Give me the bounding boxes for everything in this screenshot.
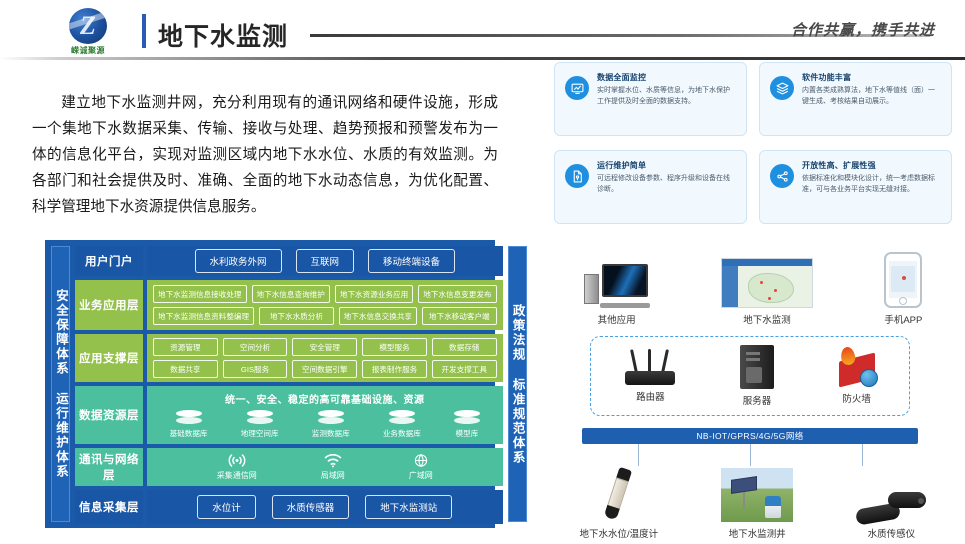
business-item[interactable]: 地下水信息查询维护 — [252, 285, 330, 303]
row-body: 水利政务外网 互联网 移动终端设备 — [147, 246, 503, 276]
database-item[interactable]: 地理空间库 — [241, 410, 279, 439]
device-label: 地下水监测井 — [729, 526, 786, 540]
network-item[interactable]: 局域网 — [321, 453, 345, 481]
feature-card-desc: 可远程修改设备参数、程序升级和设备在线诊断。 — [597, 174, 736, 195]
system-topology: 其他应用 地下水监测 手机APP 路由器 — [548, 240, 958, 540]
support-item[interactable]: 数据存储 — [432, 338, 497, 356]
architecture-row-support: 应用支撑层 资源管理 空间分析 安全管理 模型服务 数据存储 数据共享 GIS服… — [75, 334, 503, 382]
feature-card-title: 运行维护简单 — [597, 160, 736, 171]
business-item[interactable]: 地下水监测信息资料整编理 — [153, 307, 254, 325]
application-device[interactable]: 地下水监测 — [721, 258, 813, 326]
share-nodes-icon — [770, 164, 794, 188]
router-icon — [621, 349, 679, 385]
business-item[interactable]: 地下水信息变更发布 — [418, 285, 496, 303]
row-body: 统一、安全、稳定的高可靠基础设施、资源 基础数据库 地理空间库 监测数据库 — [147, 386, 503, 444]
logo-mark-icon — [69, 8, 107, 44]
map-screen-icon — [721, 258, 813, 308]
support-item[interactable]: 安全管理 — [292, 338, 357, 356]
desktop-computer-icon — [584, 264, 650, 308]
network-bar: NB-IOT/GPRS/4G/5G网络 — [582, 428, 918, 444]
row-body: 地下水监测信息接收处理 地下水信息查询维护 地下水资源业务应用 地下水信息变更发… — [147, 280, 503, 330]
feature-card[interactable]: 数据全面监控 实时掌握水位、水质等信息，为地下水保护工作提供及时全面的数据支持。 — [554, 62, 747, 136]
device-label: 手机APP — [884, 312, 922, 326]
feature-card-title: 软件功能丰富 — [802, 72, 941, 83]
support-item[interactable]: 资源管理 — [153, 338, 218, 356]
feature-card-grid: 数据全面监控 实时掌握水位、水质等信息，为地下水保护工作提供及时全面的数据支持。… — [554, 62, 952, 224]
database-cylinder-icon — [318, 410, 344, 426]
server-icon — [740, 345, 774, 389]
row-label: 数据资源层 — [75, 386, 143, 444]
application-device[interactable]: 其他应用 — [584, 264, 650, 326]
network-equipment-group: 路由器 服务器 防火墙 — [590, 336, 910, 416]
application-device-row: 其他应用 地下水监测 手机APP — [548, 240, 958, 326]
header-bottom-divider — [0, 57, 965, 60]
collection-item[interactable]: 水位计 — [197, 495, 256, 519]
database-label: 监测数据库 — [312, 428, 350, 439]
architecture-right-bar: 政策法规 标准规范体系 — [508, 246, 527, 522]
network-list: 采集通信网 局域网 — [153, 453, 497, 481]
sensor-device-row: 地下水水位/温度计 地下水监测井 水质传感仪 — [548, 462, 958, 540]
support-item[interactable]: GIS服务 — [223, 360, 288, 378]
row-body: 采集通信网 局域网 — [147, 448, 503, 486]
network-label: 广域网 — [409, 470, 433, 481]
feature-card-title: 数据全面监控 — [597, 72, 736, 83]
feature-card-desc: 实时掌握水位、水质等信息，为地下水保护工作提供及时全面的数据支持。 — [597, 86, 736, 107]
database-label: 基础数据库 — [170, 428, 208, 439]
support-item[interactable]: 数据共享 — [153, 360, 218, 378]
portal-item[interactable]: 移动终端设备 — [368, 249, 455, 273]
database-item[interactable]: 模型库 — [454, 410, 480, 439]
database-cylinder-icon — [389, 410, 415, 426]
architecture-left-bar: 安全保障体系 运行维护体系 — [51, 246, 70, 522]
firewall-icon — [835, 347, 879, 387]
page-title: 地下水监测 — [158, 17, 288, 53]
business-item[interactable]: 地下水水质分析 — [259, 307, 334, 325]
device-label: 路由器 — [636, 389, 665, 403]
row-label: 通讯与网络层 — [75, 448, 143, 486]
chip-line: 地下水监测信息资料整编理 地下水水质分析 地下水信息交换共享 地下水移动客户端 — [153, 307, 497, 325]
architecture-row-network: 通讯与网络层 采集通信网 — [75, 448, 503, 486]
architecture-row-business: 业务应用层 地下水监测信息接收处理 地下水信息查询维护 地下水资源业务应用 地下… — [75, 280, 503, 330]
architecture-right-bar-label: 政策法规 标准规范体系 — [509, 304, 526, 465]
device-label: 地下水水位/温度计 — [580, 526, 659, 540]
chip-line: 地下水监测信息接收处理 地下水信息查询维护 地下水资源业务应用 地下水信息变更发… — [153, 285, 497, 303]
monitor-chart-icon — [565, 76, 589, 100]
architecture-row-collection: 信息采集层 水位计 水质传感器 地下水监测站 — [75, 490, 503, 524]
architecture-diagram: 安全保障体系 运行维护体系 用户门户 水利政务外网 互联网 移动终端设备 业务应… — [45, 240, 495, 528]
feature-card-title: 开放性高、扩展性强 — [802, 160, 941, 171]
network-label: 局域网 — [321, 470, 345, 481]
wrench-doc-icon — [565, 164, 589, 188]
wifi-icon — [323, 453, 343, 468]
device-label: 地下水监测 — [743, 312, 791, 326]
sensor-device[interactable]: 水质传感仪 — [856, 486, 926, 540]
data-layer-caption: 统一、安全、稳定的高可靠基础设施、资源 — [225, 391, 425, 406]
database-cylinder-icon — [176, 410, 202, 426]
chip-line: 资源管理 空间分析 安全管理 模型服务 数据存储 — [153, 338, 497, 356]
network-device[interactable]: 防火墙 — [835, 347, 879, 405]
signal-broadcast-icon — [227, 453, 247, 468]
network-device[interactable]: 路由器 — [621, 349, 679, 403]
database-item[interactable]: 监测数据库 — [312, 410, 350, 439]
application-device[interactable]: 手机APP — [884, 252, 922, 326]
database-label: 地理空间库 — [241, 428, 279, 439]
portal-item[interactable]: 水利政务外网 — [195, 249, 282, 273]
row-label: 应用支撑层 — [75, 334, 143, 382]
business-item[interactable]: 地下水资源业务应用 — [335, 285, 413, 303]
intro-paragraph: 建立地下水监测井网，充分利用现有的通讯网络和硬件设施，形成一个集地下水数据采集、… — [32, 90, 498, 220]
network-item[interactable]: 广域网 — [409, 453, 433, 481]
device-label: 防火墙 — [842, 391, 871, 405]
sensor-device[interactable]: 地下水水位/温度计 — [580, 468, 659, 540]
architecture-layers: 用户门户 水利政务外网 互联网 移动终端设备 业务应用层 地下水监测信息接收处理… — [75, 246, 503, 522]
architecture-row-data: 数据资源层 统一、安全、稳定的高可靠基础设施、资源 基础数据库 地理空间库 监测… — [75, 386, 503, 444]
support-item[interactable]: 开发支撑工具 — [432, 360, 497, 378]
water-level-probe-icon — [596, 465, 641, 526]
row-body: 水位计 水质传感器 地下水监测站 — [147, 490, 503, 524]
smartphone-icon — [884, 252, 922, 308]
chip-line: 数据共享 GIS服务 空间数据引擎 报表制作服务 开发支撑工具 — [153, 360, 497, 378]
support-item[interactable]: 模型服务 — [362, 338, 427, 356]
feature-card-desc: 依据标准化和模块化设计，统一考虑数据标准，可与各业务平台实现无缝对接。 — [802, 174, 941, 195]
business-item[interactable]: 地下水监测信息接收处理 — [153, 285, 247, 303]
business-item[interactable]: 地下水信息交换共享 — [339, 307, 417, 325]
header-slogan: 合作共赢，携手共进 — [791, 19, 935, 40]
feature-card[interactable]: 运行维护简单 可远程修改设备参数、程序升级和设备在线诊断。 — [554, 150, 747, 224]
business-item[interactable]: 地下水移动客户端 — [422, 307, 497, 325]
device-label: 其他应用 — [598, 312, 636, 326]
device-label: 水质传感仪 — [868, 526, 916, 540]
page-header: 嵘诚聚源 地下水监测 合作共赢，携手共进 — [0, 0, 965, 60]
database-cylinder-icon — [247, 410, 273, 426]
sensor-device[interactable]: 地下水监测井 — [721, 468, 793, 540]
feature-card[interactable]: 开放性高、扩展性强 依据标准化和模块化设计，统一考虑数据标准，可与各业务平台实现… — [759, 150, 952, 224]
database-label: 业务数据库 — [383, 428, 421, 439]
database-item[interactable]: 业务数据库 — [383, 410, 421, 439]
collection-item[interactable]: 地下水监测站 — [365, 495, 452, 519]
row-label: 业务应用层 — [75, 280, 143, 330]
database-label: 模型库 — [456, 428, 479, 439]
collection-item[interactable]: 水质传感器 — [272, 495, 350, 519]
feature-card[interactable]: 软件功能丰富 内置各类成熟算法，地下水等值线（面）一键生成、考核结果自动展示。 — [759, 62, 952, 136]
device-label: 服务器 — [743, 393, 772, 407]
company-logo: 嵘诚聚源 — [52, 8, 124, 56]
support-item[interactable]: 空间数据引擎 — [292, 360, 357, 378]
row-label: 用户门户 — [75, 246, 143, 276]
logo-company-name: 嵘诚聚源 — [71, 45, 105, 56]
row-label: 信息采集层 — [75, 490, 143, 524]
network-device[interactable]: 服务器 — [740, 345, 774, 407]
title-accent-bar — [142, 14, 146, 48]
architecture-left-bar-label: 安全保障体系 运行维护体系 — [52, 289, 69, 479]
network-label: 采集通信网 — [217, 470, 257, 481]
database-cylinder-icon — [454, 410, 480, 426]
monitoring-well-icon — [721, 468, 793, 522]
database-list: 基础数据库 地理空间库 监测数据库 业务数据库 — [153, 410, 497, 439]
architecture-row-portal: 用户门户 水利政务外网 互联网 移动终端设备 — [75, 246, 503, 276]
portal-item[interactable]: 互联网 — [296, 249, 355, 273]
network-item[interactable]: 采集通信网 — [217, 453, 257, 481]
database-item[interactable]: 基础数据库 — [170, 410, 208, 439]
layers-icon — [770, 76, 794, 100]
row-body: 资源管理 空间分析 安全管理 模型服务 数据存储 数据共享 GIS服务 空间数据… — [147, 334, 503, 382]
feature-card-desc: 内置各类成熟算法，地下水等值线（面）一键生成、考核结果自动展示。 — [802, 86, 941, 107]
support-item[interactable]: 空间分析 — [223, 338, 288, 356]
water-quality-sensor-icon — [856, 486, 926, 522]
support-item[interactable]: 报表制作服务 — [362, 360, 427, 378]
globe-icon — [412, 453, 430, 468]
